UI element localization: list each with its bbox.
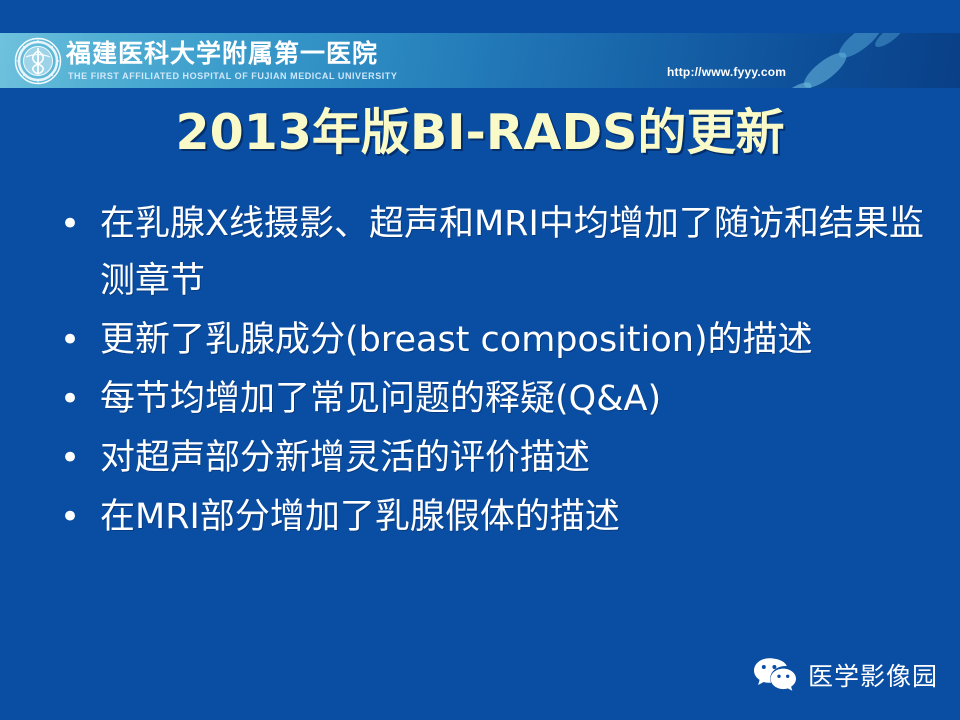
- list-item: • 对超声部分新增灵活的评价描述: [48, 430, 928, 487]
- list-item: • 在乳腺X线摄影、超声和MRI中均增加了随访和结果监测章节: [48, 196, 928, 310]
- hospital-name-english: THE FIRST AFFILIATED HOSPITAL OF FUJIAN …: [68, 71, 397, 81]
- watermark-label: 医学影像园: [808, 657, 938, 693]
- header-banner: 福建医科大学附属第一医院 THE FIRST AFFILIATED HOSPIT…: [0, 33, 960, 88]
- bullet-point-icon: •: [48, 430, 100, 487]
- wechat-icon: [752, 655, 798, 695]
- list-item-text: 在MRI部分增加了乳腺假体的描述: [100, 489, 928, 546]
- hospital-website-url[interactable]: http://www.fyyy.com: [667, 65, 786, 79]
- list-item-text: 更新了乳腺成分(breast composition)的描述: [100, 312, 928, 369]
- leaf-petals-decoration-icon: [700, 33, 960, 88]
- list-item-text: 在乳腺X线摄影、超声和MRI中均增加了随访和结果监测章节: [100, 196, 928, 310]
- bullet-point-icon: •: [48, 489, 100, 546]
- footer-watermark: 医学影像园: [752, 655, 938, 695]
- hospital-name-chinese: 福建医科大学附属第一医院: [66, 39, 378, 69]
- list-item-text: 对超声部分新增灵活的评价描述: [100, 430, 928, 487]
- list-item-text: 每节均增加了常见问题的释疑(Q&A): [100, 371, 928, 428]
- slide-title: 2013年版BI-RADS的更新: [0, 93, 960, 164]
- list-item: • 在MRI部分增加了乳腺假体的描述: [48, 489, 928, 546]
- bullet-point-icon: •: [48, 371, 100, 428]
- bullet-point-icon: •: [48, 196, 100, 253]
- hospital-emblem-icon: [14, 37, 62, 85]
- bullet-point-icon: •: [48, 312, 100, 369]
- bullet-list: • 在乳腺X线摄影、超声和MRI中均增加了随访和结果监测章节 • 更新了乳腺成分…: [48, 196, 928, 548]
- list-item: • 更新了乳腺成分(breast composition)的描述: [48, 312, 928, 369]
- list-item: • 每节均增加了常见问题的释疑(Q&A): [48, 371, 928, 428]
- presentation-slide: 福建医科大学附属第一医院 THE FIRST AFFILIATED HOSPIT…: [0, 0, 960, 720]
